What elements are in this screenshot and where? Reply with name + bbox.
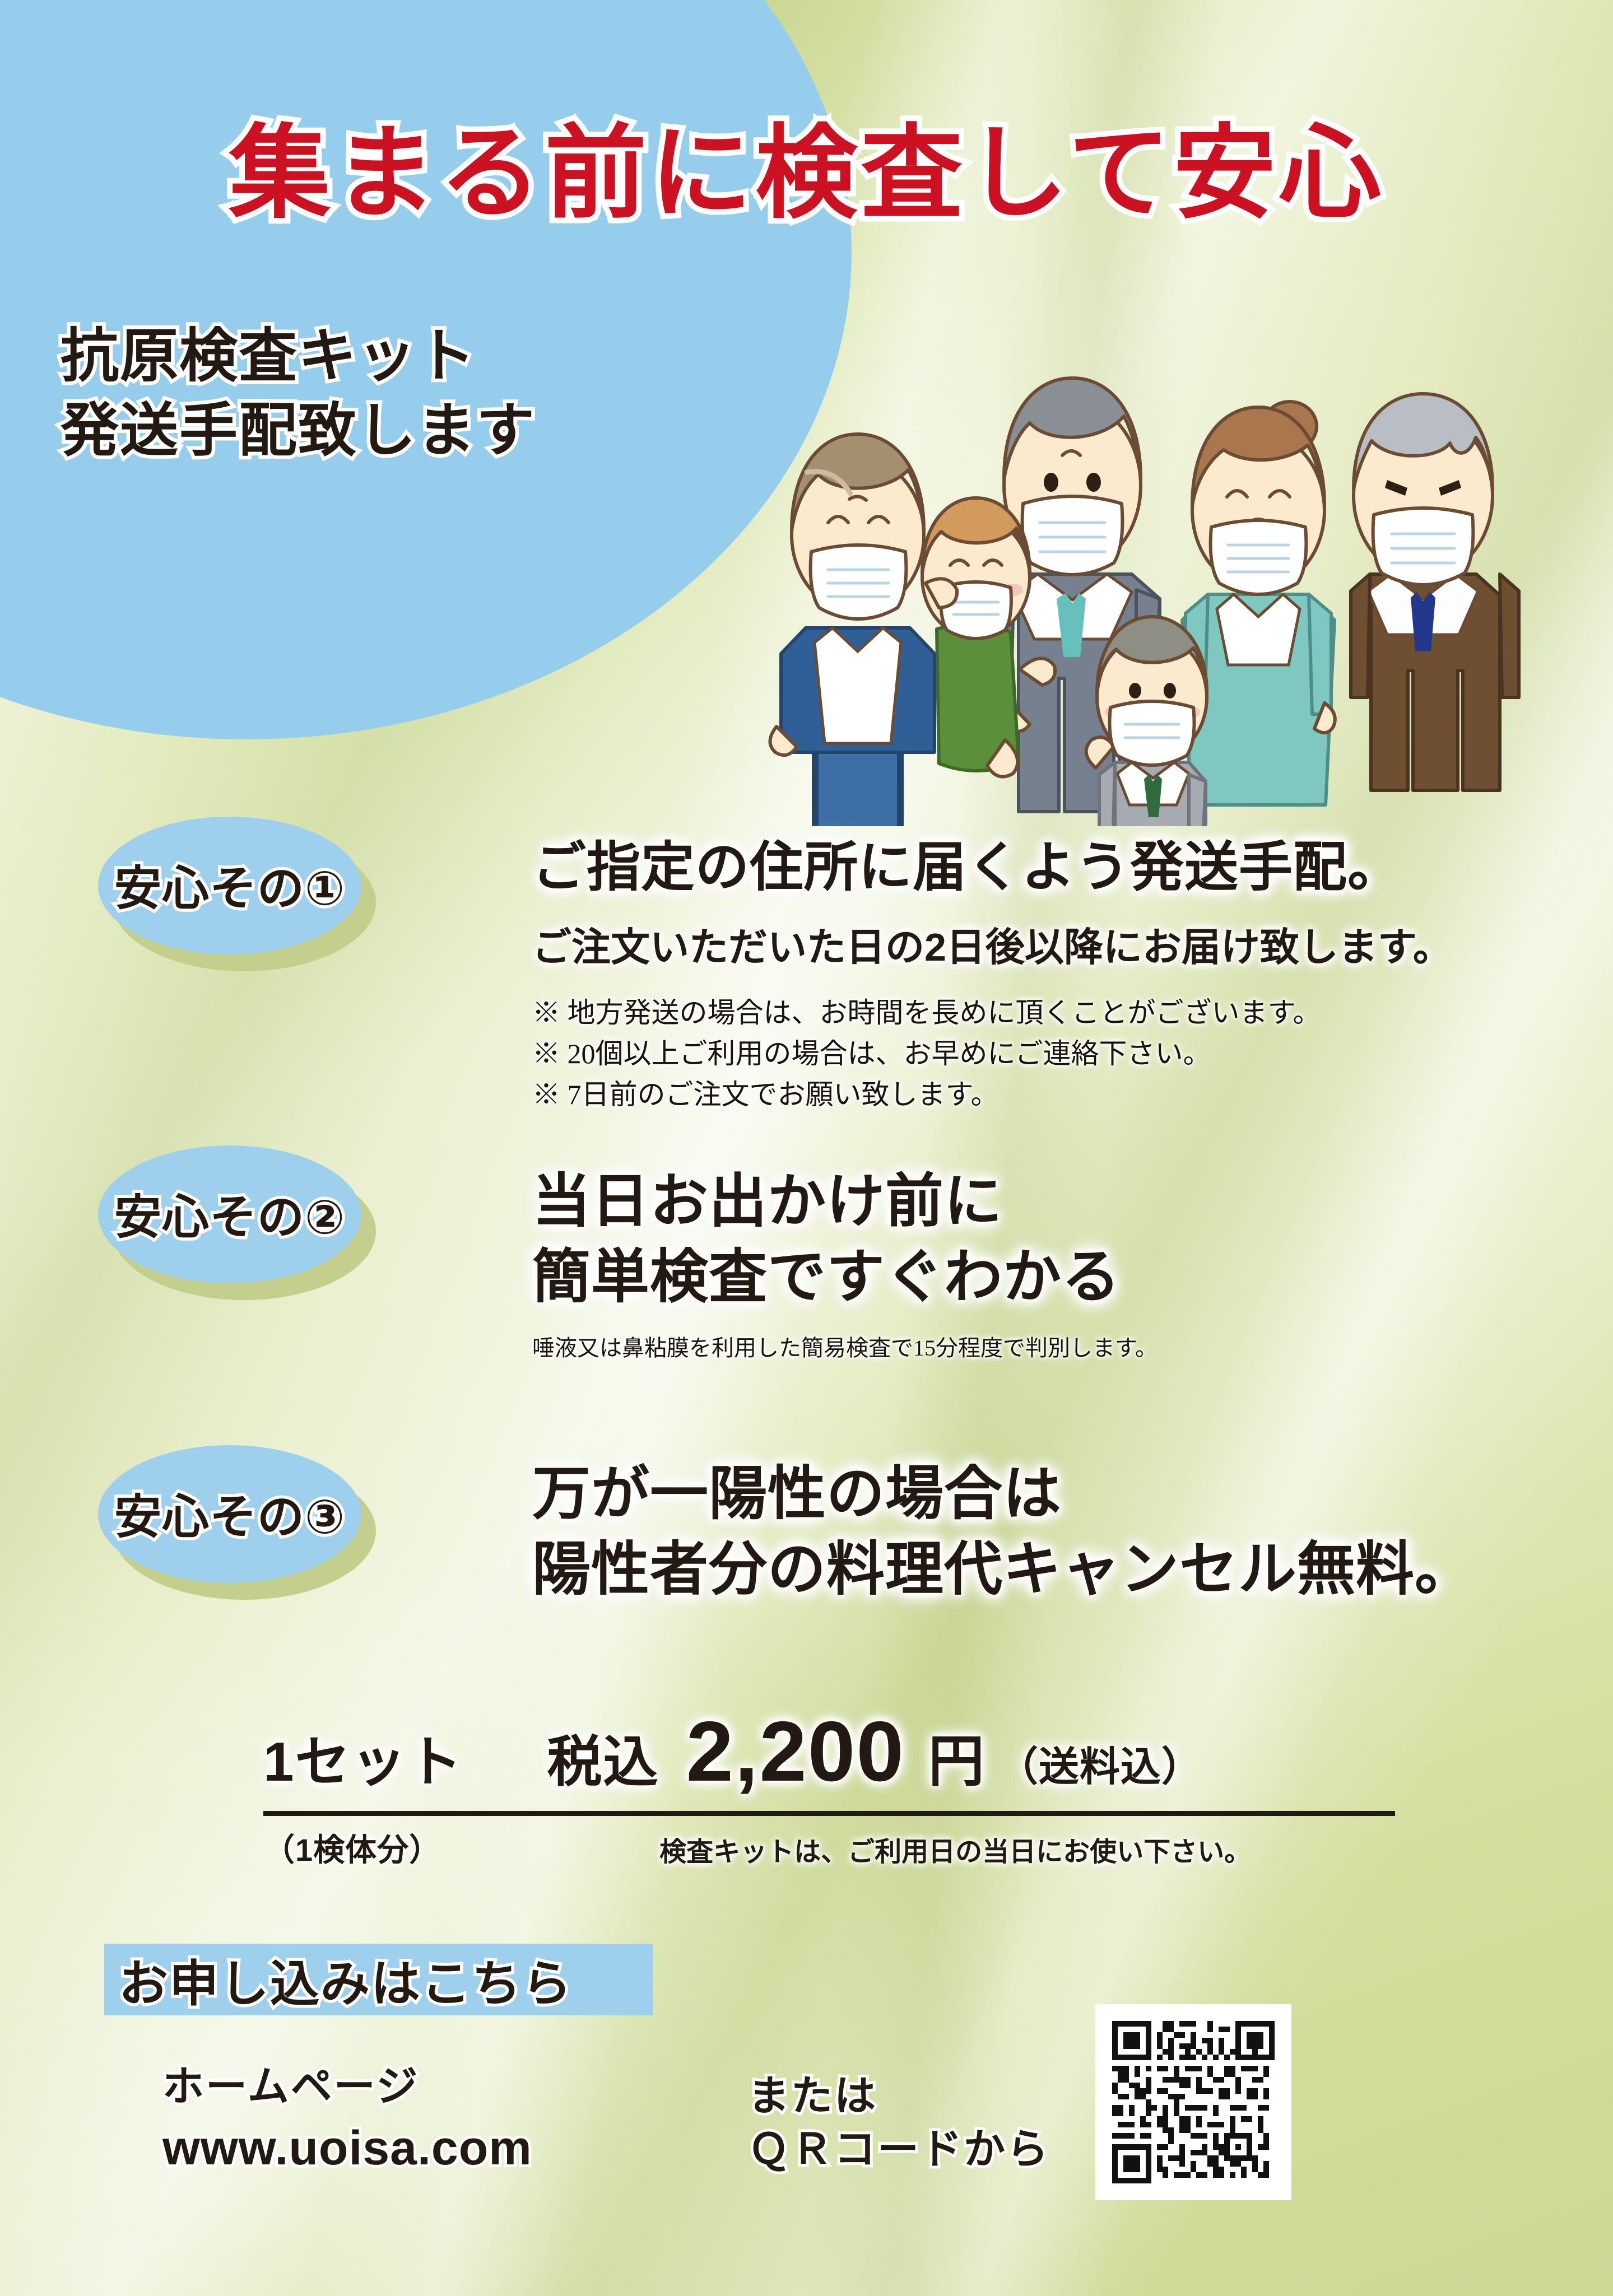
- badge-2-oval: 安心その②: [98, 1145, 361, 1283]
- point-1-note-1: ※ 地方発送の場合は、お時間を長めに頂くことがございます。: [532, 993, 1452, 1033]
- badge-2-label: 安心その②: [114, 1180, 345, 1247]
- price-set-label: 1セット: [263, 1717, 463, 1797]
- point-1-heading: ご指定の住所に届くよう発送手配。: [532, 835, 1452, 900]
- price-sample-count: （1検体分）: [263, 1825, 441, 1870]
- or-label: または: [748, 2070, 1050, 2123]
- point-1-sub: ご注文いただいた日の2日後以降にお届け致します。: [532, 916, 1452, 972]
- badge-3-oval: 安心その③: [98, 1445, 361, 1583]
- point-3-heading-line-2: 陽性者分の料理代キャンセル無料。: [532, 1532, 1473, 1608]
- price-row: 1セット 税込 2,200 円 （送料込）: [263, 1703, 1401, 1801]
- qr-label: ＱＲコードから: [748, 2123, 1050, 2176]
- homepage-url[interactable]: www.uoisa.com: [162, 2121, 532, 2176]
- price-usage-note: 検査キットは、ご利用日の当日にお使い下さい。: [659, 1829, 1251, 1869]
- point-2-note: 唾液又は鼻粘膜を利用した簡易検査で15分程度で判別します。: [532, 1330, 1158, 1362]
- apply-banner[interactable]: お申し込みはこちら: [104, 1944, 653, 2015]
- point-2-heading-line-2: 簡単検査ですぐわかる: [532, 1240, 1158, 1315]
- badge-3-label: 安心その③: [114, 1479, 345, 1547]
- badge-1-oval: 安心その①: [98, 817, 361, 954]
- price-block: 1セット 税込 2,200 円 （送料込） （1検体分） 検査キットは、ご利用日…: [263, 1703, 1401, 1870]
- price-divider: [263, 1811, 1395, 1816]
- homepage-label: ホームページ: [162, 2053, 532, 2113]
- subheading-line-1: 抗原検査キット: [61, 319, 536, 394]
- poster-root: .sk{fill:#fbeacd;stroke:#6b4b33;stroke-w…: [0, 0, 1613, 2296]
- point-1-note-3: ※ 7日前のご注文でお願い致します。: [532, 1074, 1452, 1115]
- subheading: 抗原検査キット 発送手配致します: [61, 319, 536, 468]
- contact-qr-text: または ＱＲコードから: [748, 2070, 1050, 2176]
- badge-1-label: 安心その①: [114, 851, 345, 919]
- price-footnotes: （1検体分） 検査キットは、ご利用日の当日にお使い下さい。: [263, 1825, 1401, 1870]
- point-3-heading-line-1: 万が一陽性の場合は: [532, 1456, 1473, 1532]
- price-amount: 2,200: [686, 1703, 905, 1801]
- subheading-line-2: 発送手配致します: [61, 394, 536, 468]
- price-shipping-note: （送料込）: [998, 1734, 1202, 1792]
- price-tax-label: 税込: [547, 1717, 659, 1797]
- family-illustration: .sk{fill:#fbeacd;stroke:#6b4b33;stroke-w…: [723, 311, 1574, 826]
- point-1-note-2: ※ 20個以上ご利用の場合は、お早めにご連絡下さい。: [532, 1033, 1452, 1074]
- contact-homepage: ホームページ www.uoisa.com: [162, 2053, 532, 2176]
- point-2-heading-line-1: 当日お出かけ前に: [532, 1164, 1158, 1240]
- apply-banner-label: お申し込みはこちら: [119, 1944, 573, 2015]
- page-title: 集まる前に検査して安心: [0, 122, 1613, 224]
- price-currency-unit: 円: [928, 1716, 986, 1797]
- qr-code[interactable]: [1095, 2004, 1291, 2200]
